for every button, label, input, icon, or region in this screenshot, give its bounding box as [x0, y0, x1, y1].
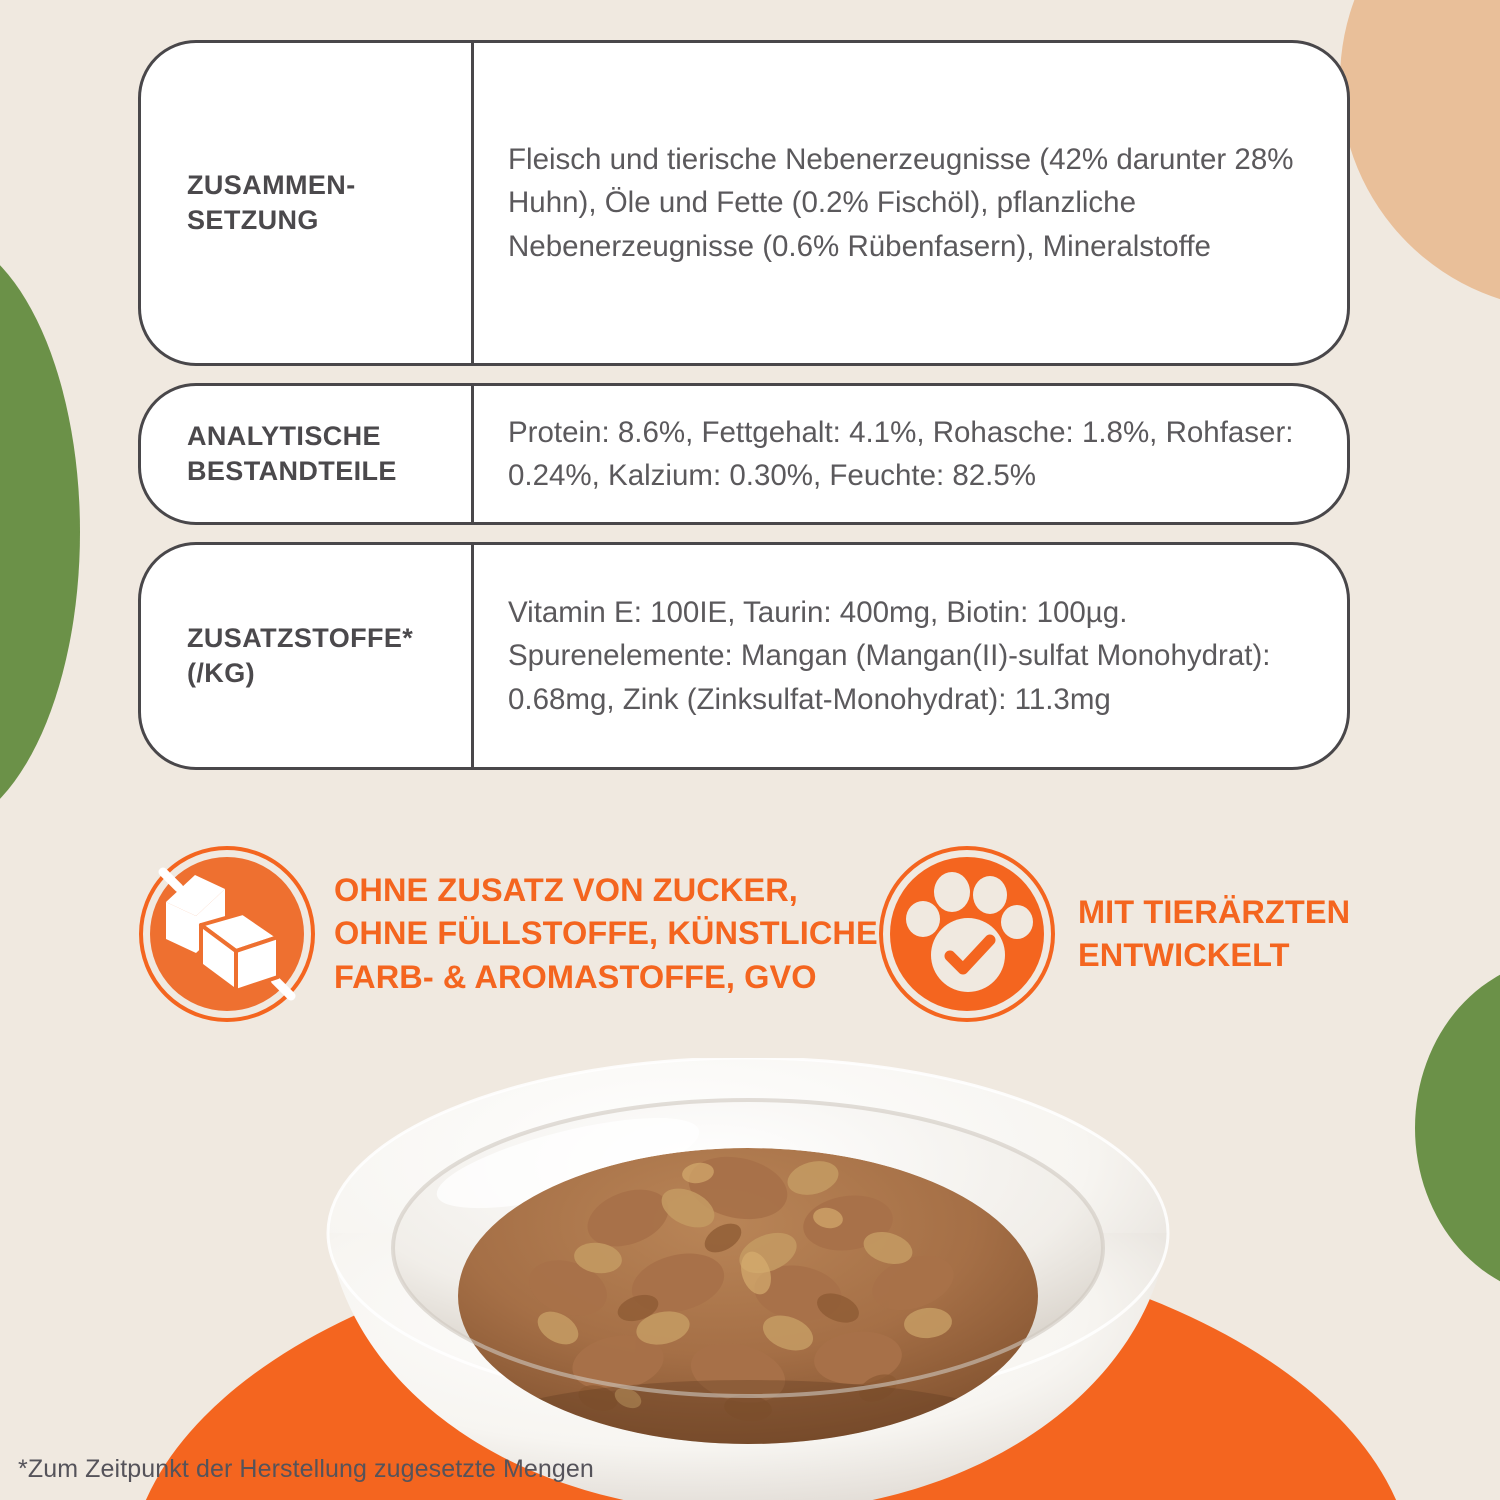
no-sugar-line-1: OHNE ZUSATZ VON ZUCKER, — [334, 872, 798, 908]
claims-badges-group: OHNE ZUSATZ VON ZUCKER, OHNE FÜLLSTOFFE,… — [138, 845, 1438, 1023]
no-sugar-line-3: FARB- & AROMASTOFFE, GVO — [334, 959, 817, 995]
footnote-text: *Zum Zeitpunkt der Herstellung zugesetzt… — [18, 1455, 594, 1484]
analytical-card-label: ANALYTISCHE BESTANDTEILE — [187, 419, 397, 489]
additives-card-label: ZUSATZSTOFFE* (/KG) — [187, 621, 413, 691]
vet-line-2: ENTWICKELT — [1078, 937, 1290, 973]
additives-card: ZUSATZSTOFFE* (/KG) Vitamin E: 100IE, Ta… — [138, 542, 1350, 770]
analytical-card-body-cell: Protein: 8.6%, Fettgehalt: 4.1%, Rohasch… — [474, 386, 1347, 522]
sugar-cubes-crossed-out-icon — [138, 845, 316, 1023]
analytical-label-line-2: BESTANDTEILE — [187, 456, 397, 486]
additives-label-line-2: (/KG) — [187, 658, 255, 688]
composition-card-text: Fleisch und tierische Nebenerzeugnisse (… — [508, 138, 1311, 268]
analytical-label-line-1: ANALYTISCHE — [187, 421, 381, 451]
peach-circle-top-right-shape — [1340, 0, 1500, 310]
composition-card-body-cell: Fleisch und tierische Nebenerzeugnisse (… — [474, 43, 1347, 363]
vet-developed-badge: MIT TIERÄRZTEN ENTWICKELT — [878, 845, 1350, 1023]
composition-card: ZUSAMMEN- SETZUNG Fleisch und tierische … — [138, 40, 1350, 366]
additives-card-body-cell: Vitamin E: 100IE, Taurin: 400mg, Biotin:… — [474, 545, 1347, 767]
white-bowl-with-wet-pet-food — [268, 1058, 1228, 1500]
composition-label-line-2: SETZUNG — [187, 205, 319, 235]
analytical-card-text: Protein: 8.6%, Fettgehalt: 4.1%, Rohasch… — [508, 411, 1311, 498]
additives-card-text: Vitamin E: 100IE, Taurin: 400mg, Biotin:… — [508, 591, 1311, 721]
vet-line-1: MIT TIERÄRZTEN — [1078, 894, 1350, 930]
no-sugar-line-2: OHNE FÜLLSTOFFE, KÜNSTLICHE — [334, 915, 878, 951]
vet-developed-badge-text: MIT TIERÄRZTEN ENTWICKELT — [1078, 891, 1350, 977]
additives-label-line-1: ZUSATZSTOFFE* — [187, 623, 413, 653]
additives-card-label-cell: ZUSATZSTOFFE* (/KG) — [141, 545, 471, 767]
composition-card-label-cell: ZUSAMMEN- SETZUNG — [141, 43, 471, 363]
product-info-panel: ZUSAMMEN- SETZUNG Fleisch und tierische … — [0, 0, 1500, 1500]
nutrition-cards-group: ZUSAMMEN- SETZUNG Fleisch und tierische … — [138, 40, 1350, 787]
analytical-constituents-card: ANALYTISCHE BESTANDTEILE Protein: 8.6%, … — [138, 383, 1350, 525]
analytical-card-label-cell: ANALYTISCHE BESTANDTEILE — [141, 386, 471, 522]
composition-label-line-1: ZUSAMMEN- — [187, 170, 356, 200]
composition-card-label: ZUSAMMEN- SETZUNG — [187, 168, 356, 238]
no-added-sugar-badge: OHNE ZUSATZ VON ZUCKER, OHNE FÜLLSTOFFE,… — [138, 845, 878, 1023]
green-circle-left-shape — [0, 232, 80, 832]
paw-with-checkmark-icon — [878, 845, 1056, 1023]
no-added-sugar-badge-text: OHNE ZUSATZ VON ZUCKER, OHNE FÜLLSTOFFE,… — [334, 869, 878, 999]
